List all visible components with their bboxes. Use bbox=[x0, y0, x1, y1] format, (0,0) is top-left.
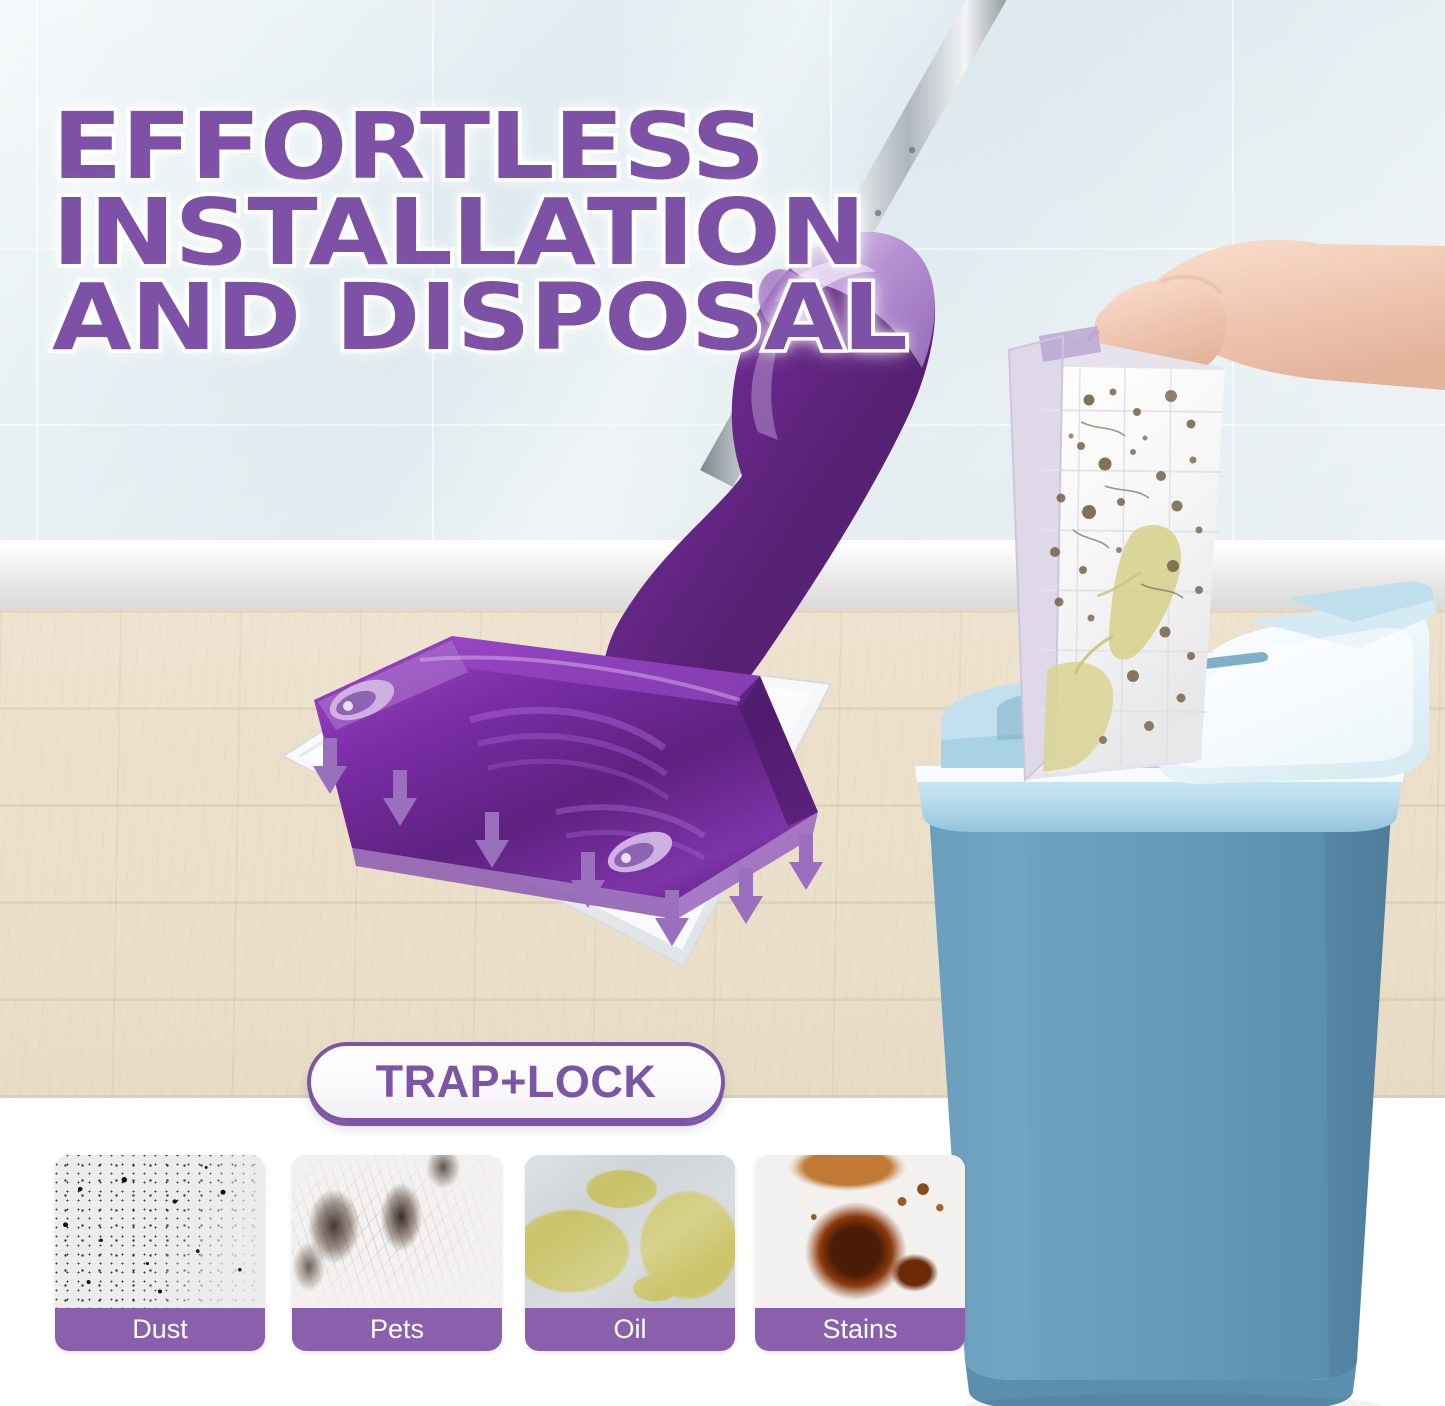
card-label: Oil bbox=[525, 1308, 735, 1351]
soil-type-cards: Dust Pets Oil Stains bbox=[55, 1155, 960, 1355]
card-oil[interactable]: Oil bbox=[525, 1155, 735, 1351]
trash-can-body bbox=[929, 812, 1391, 1406]
card-dust[interactable]: Dust bbox=[55, 1155, 265, 1351]
trap-lock-label: TRAP+LOCK bbox=[376, 1056, 657, 1108]
tile-seam bbox=[36, 0, 38, 545]
dust-swatch-art bbox=[55, 1155, 265, 1310]
stains-swatch-art bbox=[755, 1155, 965, 1310]
oil-swatch-art bbox=[525, 1155, 735, 1310]
card-label: Stains bbox=[755, 1308, 965, 1351]
product-marketing-image: EFFORTLESS INSTALLATION AND DISPOSAL bbox=[0, 0, 1445, 1406]
trap-lock-badge: TRAP+LOCK bbox=[307, 1042, 725, 1122]
hand-dropping-dirty-pad bbox=[985, 240, 1445, 800]
card-label: Pets bbox=[292, 1308, 502, 1351]
card-label: Dust bbox=[55, 1308, 265, 1351]
pets-swatch-art bbox=[292, 1155, 502, 1310]
card-stains[interactable]: Stains bbox=[755, 1155, 965, 1351]
card-pets[interactable]: Pets bbox=[292, 1155, 502, 1351]
dirty-mop-pad bbox=[1009, 326, 1225, 780]
